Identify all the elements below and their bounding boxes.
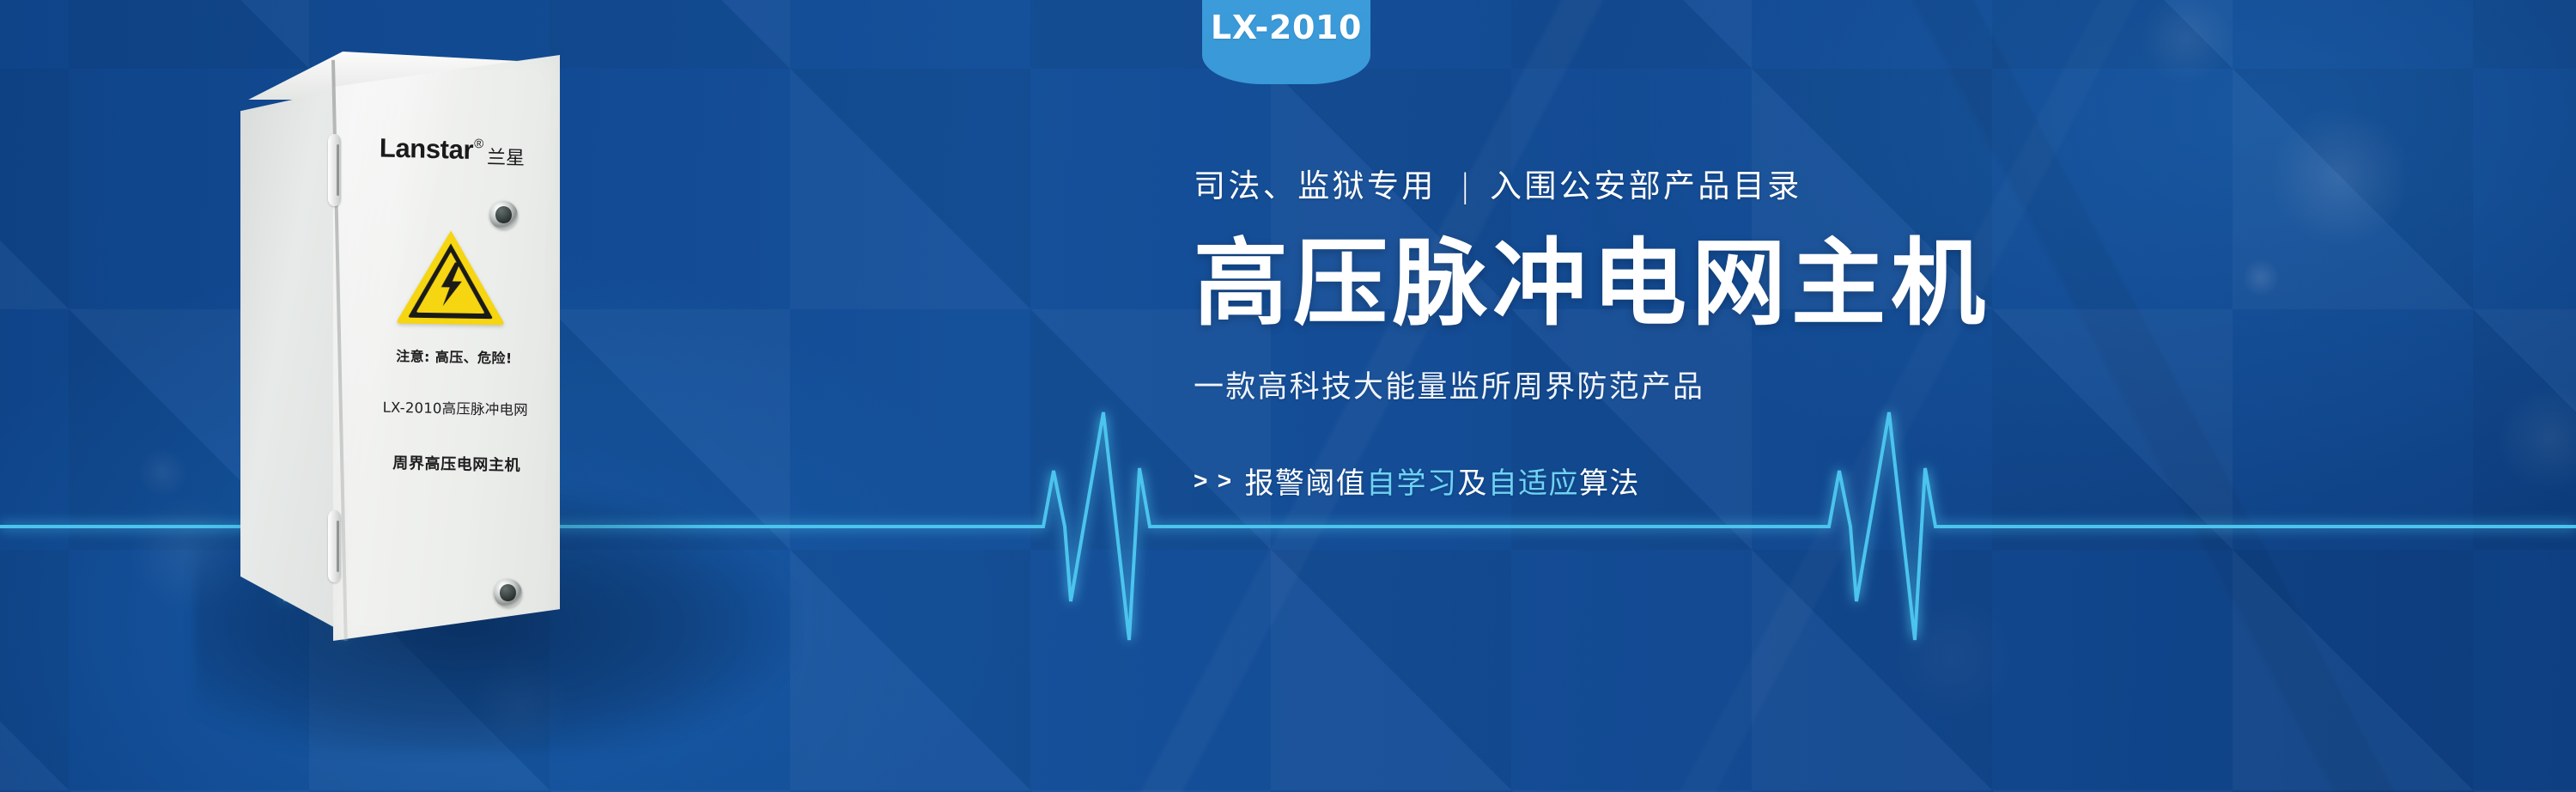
- cabinet-faceplate-content: Lanstar ® 兰星 注意: 高压、危险! LX-2010高压脉冲电网 周界…: [340, 54, 568, 639]
- banner-eyebrow: 司法、监狱专用 | 入围公安部产品目录: [1194, 160, 2533, 206]
- cabinet-side-panel: [240, 89, 340, 631]
- page-title: 高压脉冲电网主机: [1194, 235, 2533, 332]
- cabinet-hinge-bottom: [328, 510, 341, 582]
- brand-name-cn: 兰星: [487, 142, 525, 170]
- model-badge: LX-2010: [1202, 0, 1370, 84]
- product-hero-banner: Lanstar ® 兰星 注意: 高压、危险! LX-2010高压脉冲电网 周界…: [0, 0, 2576, 792]
- product-name-text: 周界高压电网主机: [349, 450, 564, 477]
- product-model-text: LX-2010高压脉冲电网: [348, 395, 562, 420]
- product-image-enclosure: Lanstar ® 兰星 注意: 高压、危险! LX-2010高压脉冲电网 周界…: [203, 40, 975, 727]
- registered-mark-icon: ®: [474, 137, 483, 150]
- eyebrow-segment-left: 司法、监狱专用: [1194, 168, 1437, 204]
- hazard-triangle-svg: [395, 226, 507, 327]
- feature-text-highlight-2: 自适应: [1488, 460, 1579, 502]
- high-voltage-warning-icon: [395, 226, 507, 327]
- feature-text-part-5: 算法: [1579, 460, 1640, 502]
- eyebrow-divider: |: [1460, 168, 1473, 204]
- chevron-right-icon: >: [1194, 467, 1209, 495]
- chevron-right-icon: >: [1218, 467, 1233, 495]
- cabinet-hinge-top: [328, 134, 341, 206]
- brand-name-en: Lanstar: [380, 132, 474, 165]
- banner-feature-line: > > 报警阈值 自学习 及 自适应 算法: [1194, 460, 2533, 502]
- feature-text-highlight-1: 自学习: [1366, 460, 1457, 502]
- model-badge-label: LX-2010: [1211, 9, 1362, 46]
- product-warning-text: 注意: 高压、危险!: [347, 344, 562, 369]
- feature-text-part-1: 报警阈值: [1245, 460, 1367, 502]
- banner-copy-column: 司法、监狱专用 | 入围公安部产品目录 高压脉冲电网主机 一款高科技大能量监所周…: [1194, 160, 2533, 502]
- product-brand-logo: Lanstar ® 兰星: [357, 132, 547, 171]
- eyebrow-segment-right: 入围公安部产品目录: [1490, 168, 1802, 204]
- banner-tagline: 一款高科技大能量监所周界防范产品: [1194, 362, 2533, 406]
- feature-text-part-3: 及: [1457, 460, 1487, 502]
